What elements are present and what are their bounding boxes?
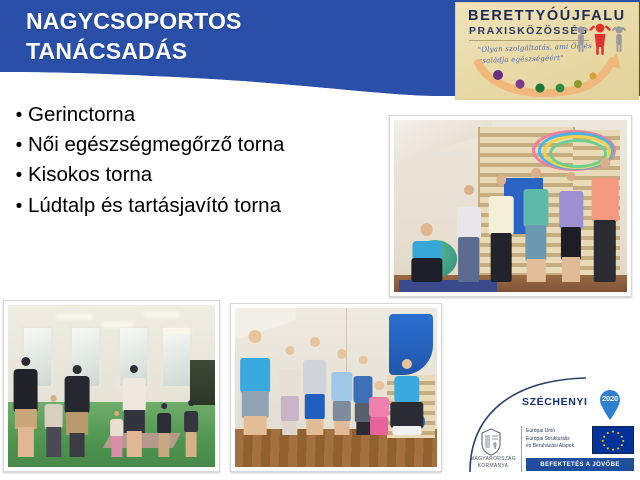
eu-funding-text: Európai Unió Európai Strukturális és Ber… [526, 428, 588, 451]
list-item-label: Kisokos torna [28, 163, 152, 187]
bullet-icon: • [10, 166, 28, 185]
title-line-2: TANÁCSADÁS [26, 36, 426, 66]
eu-line-2: Európai Strukturális [526, 436, 588, 444]
list-item-label: Női egészségmegőrző torna [28, 133, 284, 157]
szechenyi-2020-logo: SZÉCHENYI 2020 MAGYARORSZÁG KORMÁNYA Eur… [466, 372, 638, 476]
photo-children-group [230, 303, 442, 472]
photo-women-gym-group [389, 115, 632, 297]
list-item: • Női egészségmegőrző torna [10, 133, 392, 157]
title-line-1: NAGYCSOPORTOS [26, 8, 242, 34]
bullet-icon: • [10, 197, 28, 216]
logo-subtitle: PRAXISKÖZÖSSÉG [469, 25, 589, 37]
list-item-label: Gerinctorna [28, 103, 135, 127]
eu-line-1: Európai Unió [526, 428, 588, 436]
page-title: NAGYCSOPORTOS TANÁCSADÁS [26, 6, 426, 67]
investing-in-future-slogan: BEFEKTETÉS A JÖVŐBE [526, 458, 634, 471]
presentation-slide: NAGYCSOPORTOS TANÁCSADÁS BERETTYÓÚJFALU … [0, 0, 640, 480]
service-list: • Gerinctorna • Női egészségmegőrző torn… [10, 103, 392, 224]
eu-flag-icon [592, 426, 634, 454]
list-item: • Kisokos torna [10, 163, 392, 187]
list-item: • Gerinctorna [10, 103, 392, 127]
hungary-coat-of-arms-icon [478, 428, 504, 456]
bullet-icon: • [10, 106, 28, 125]
photo-adult-exercise-class [3, 300, 220, 472]
government-label: MAGYARORSZÁG KORMÁNYA [466, 456, 520, 470]
list-item-label: Lúdtalp és tartásjavító torna [28, 194, 281, 218]
szechenyi-year: 2020 [599, 394, 621, 403]
photo-women-gym-group-image [394, 120, 627, 292]
eu-line-3: és Beruházási Alapok [526, 443, 588, 451]
szechenyi-wordmark: SZÉCHENYI [522, 396, 588, 408]
logo-separator [521, 426, 522, 472]
list-item: • Lúdtalp és tartásjavító torna [10, 194, 392, 218]
photo-adult-exercise-class-image [8, 305, 215, 467]
bullet-icon: • [10, 136, 28, 155]
logo-arrow-arc [474, 49, 634, 97]
berettyoujfalu-logo: BERETTYÓÚJFALU PRAXISKÖZÖSSÉG "Olyan szo… [455, 2, 639, 100]
photo-children-group-image [235, 308, 437, 467]
